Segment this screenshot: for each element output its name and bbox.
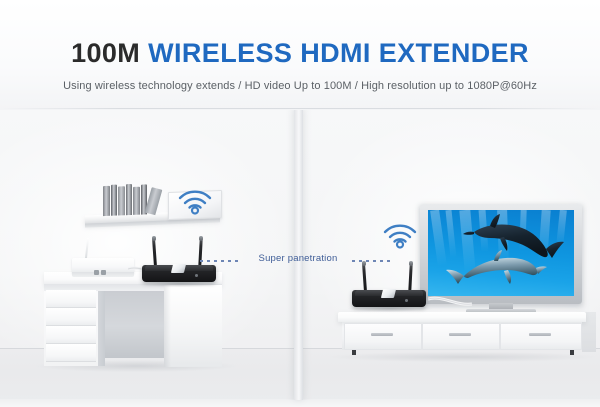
title-highlight: 100M	[71, 38, 140, 68]
transmitter-antenna-right-tip	[199, 236, 203, 241]
desk-drawer	[46, 344, 96, 362]
page-title: 100M WIRELESS HDMI EXTENDER	[0, 38, 600, 68]
transmitter-logo	[171, 264, 186, 273]
wireless-hdmi-receiver	[352, 268, 432, 312]
tv-stand-drawer-handle	[449, 333, 471, 336]
title-main: WIRELESS HDMI EXTENDER	[148, 38, 529, 68]
tv-stand-shadow	[330, 352, 595, 362]
dolphins-image	[428, 210, 574, 296]
receiver-logo	[381, 289, 396, 298]
signal-dotted-line-right	[352, 260, 394, 262]
signal-label: Super panetration	[243, 253, 353, 264]
banner-bottom-edge	[0, 399, 600, 407]
tv-stand-top	[338, 312, 586, 322]
signal-dotted-line-left	[200, 260, 242, 262]
receiver-antenna-left	[362, 264, 367, 291]
book	[111, 185, 117, 216]
wifi-signal-icon-transmitter	[176, 185, 214, 215]
dolphin-upper	[463, 214, 564, 258]
product-banner: 100M WIRELESS HDMI EXTENDER Using wirele…	[0, 0, 600, 407]
receiver-tv-cable	[428, 295, 472, 311]
book	[126, 184, 132, 215]
dolphin-lower	[446, 250, 547, 284]
book	[133, 187, 140, 215]
books	[103, 182, 159, 216]
receiver-antenna-right	[408, 264, 412, 291]
desk-right-pedestal-shade	[164, 285, 171, 367]
desk-drawer	[46, 308, 96, 326]
header-divider	[0, 108, 600, 109]
desk-drawer	[46, 290, 96, 308]
tv-screen	[428, 210, 574, 296]
wireless-hdmi-transmitter	[142, 243, 222, 287]
tv-stand-drawer	[422, 323, 500, 350]
transmitter-led-icon	[195, 274, 198, 277]
desk-knee-hole	[104, 288, 166, 358]
router-port-2	[101, 270, 106, 275]
tv-stand-drawer	[500, 323, 582, 350]
tv-stand-drawer	[344, 323, 422, 350]
transmitter-antenna-left-tip	[152, 236, 156, 241]
tv-stand-drawer-handle	[371, 333, 393, 336]
desk-drawer	[46, 326, 96, 344]
receiver-led-icon	[405, 299, 408, 302]
router-port-1	[94, 270, 99, 275]
banner-header: 100M WIRELESS HDMI EXTENDER Using wirele…	[0, 0, 600, 110]
book	[103, 186, 110, 216]
wifi-signal-icon-receiver	[381, 219, 419, 249]
page-subtitle: Using wireless technology extends / HD v…	[0, 80, 600, 92]
tv-stand-drawer-handle	[529, 333, 551, 336]
transmitter-antenna-left	[152, 239, 157, 266]
receiver-antenna-right-tip	[409, 261, 413, 266]
book	[118, 186, 125, 215]
desk-right-pedestal	[164, 285, 222, 367]
